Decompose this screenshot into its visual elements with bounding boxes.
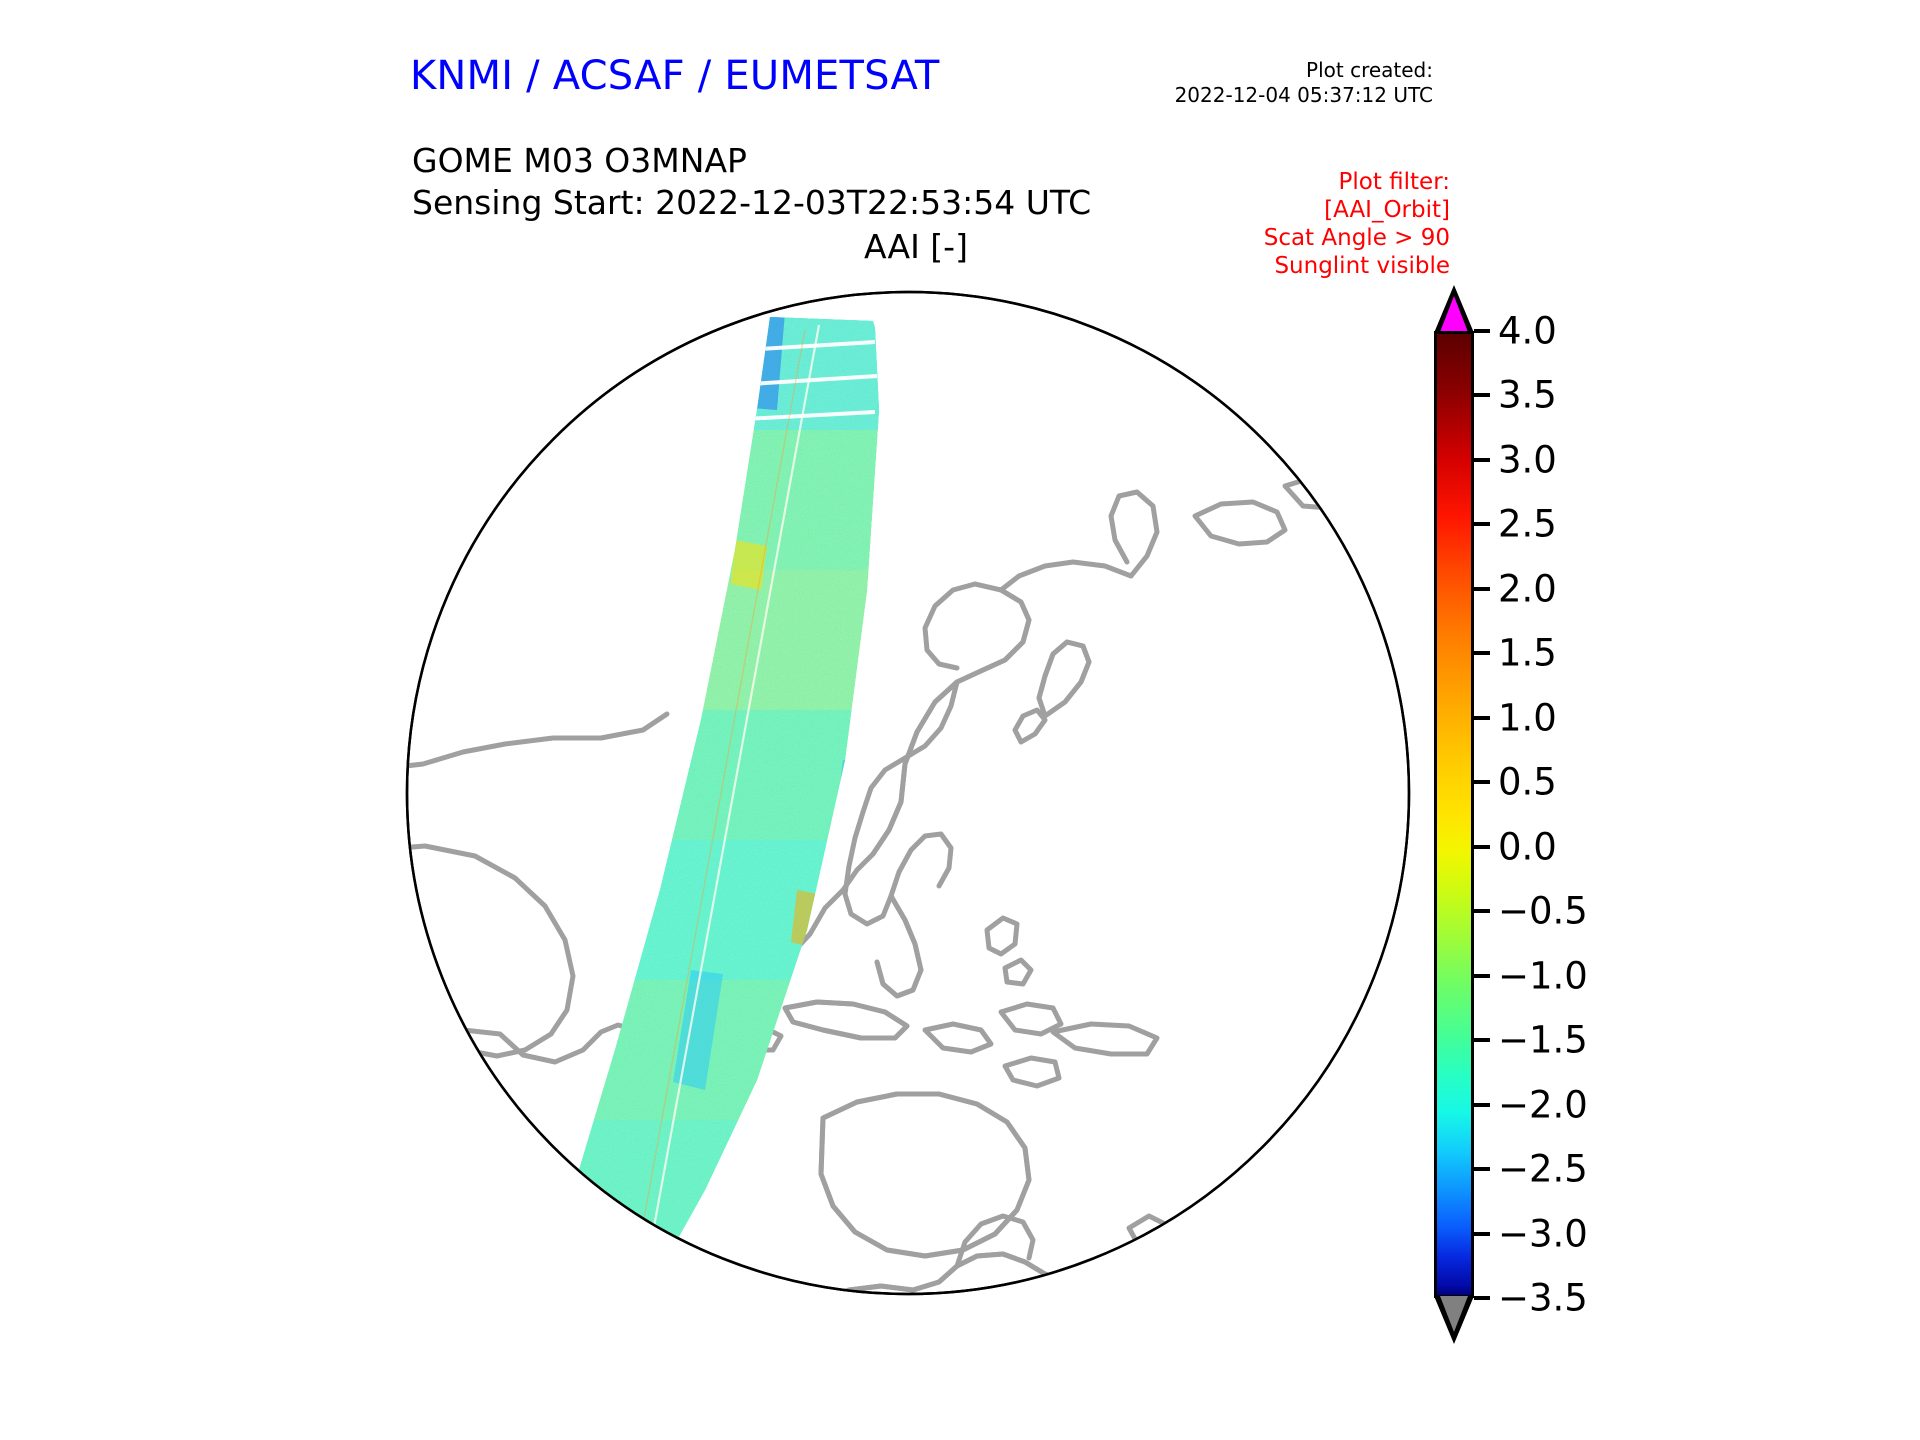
plot-created-timestamp: 2022-12-04 05:37:12 UTC bbox=[1175, 83, 1433, 108]
colorbar-tick bbox=[1474, 909, 1490, 913]
colorbar-tick-label: 2.5 bbox=[1498, 506, 1557, 543]
colorbar-tick-label: −3.0 bbox=[1498, 1215, 1588, 1252]
colorbar-tick-label: 4.0 bbox=[1498, 313, 1557, 350]
plot-filter-line-0: [AAI_Orbit] bbox=[1264, 196, 1450, 224]
colorbar-tick bbox=[1474, 1232, 1490, 1236]
colorbar: 4.03.53.02.52.01.51.00.50.0−0.5−1.0−1.5−… bbox=[1430, 280, 1730, 1310]
quantity-title-row: AAI [-] bbox=[0, 227, 1920, 266]
colorbar-tick bbox=[1474, 393, 1490, 397]
colorbar-tick-label: 1.5 bbox=[1498, 635, 1557, 672]
colorbar-tick bbox=[1474, 329, 1490, 333]
organisation-header: KNMI / ACSAF / EUMETSAT bbox=[410, 53, 940, 99]
colorbar-tick-label: 3.5 bbox=[1498, 377, 1557, 414]
plot-filter-line-1: Scat Angle > 90 bbox=[1264, 224, 1450, 252]
plot-created-block: Plot created: 2022-12-04 05:37:12 UTC bbox=[1175, 58, 1433, 108]
product-name: GOME M03 O3MNAP bbox=[412, 140, 1091, 182]
plot-filter-title: Plot filter: bbox=[1264, 168, 1450, 196]
colorbar-tick-label: 0.0 bbox=[1498, 828, 1557, 865]
colorbar-tick bbox=[1474, 458, 1490, 462]
colorbar-tick bbox=[1474, 1103, 1490, 1107]
colorbar-tick-label: −2.0 bbox=[1498, 1086, 1588, 1123]
plot-canvas: KNMI / ACSAF / EUMETSAT Plot created: 20… bbox=[0, 0, 1920, 1440]
colorbar-tick bbox=[1474, 651, 1490, 655]
colorbar-tick-label: −0.5 bbox=[1498, 893, 1588, 930]
colorbar-under-arrow-fill bbox=[1440, 1296, 1468, 1332]
globe-outline bbox=[407, 292, 1409, 1294]
orthographic-map bbox=[405, 290, 1411, 1296]
product-info-block: GOME M03 O3MNAP Sensing Start: 2022-12-0… bbox=[412, 140, 1091, 224]
globe-svg bbox=[405, 290, 1411, 1296]
colorbar-tick-label: 1.0 bbox=[1498, 699, 1557, 736]
colorbar-tick bbox=[1474, 716, 1490, 720]
plot-filter-block: Plot filter: [AAI_Orbit] Scat Angle > 90… bbox=[1264, 168, 1450, 280]
colorbar-tick-label: −1.0 bbox=[1498, 957, 1588, 994]
colorbar-over-arrow-fill bbox=[1440, 296, 1468, 332]
colorbar-tick bbox=[1474, 1167, 1490, 1171]
colorbar-tick bbox=[1474, 1038, 1490, 1042]
plot-filter-line-2: Sunglint visible bbox=[1264, 252, 1450, 280]
colorbar-tick-label: 3.0 bbox=[1498, 441, 1557, 478]
sensing-start: Sensing Start: 2022-12-03T22:53:54 UTC bbox=[412, 182, 1091, 224]
colorbar-tick bbox=[1474, 780, 1490, 784]
colorbar-gradient bbox=[1434, 331, 1474, 1298]
colorbar-tick-label: −2.5 bbox=[1498, 1151, 1588, 1188]
colorbar-tick bbox=[1474, 1296, 1490, 1300]
colorbar-tick bbox=[1474, 974, 1490, 978]
colorbar-tick bbox=[1474, 587, 1490, 591]
colorbar-tick bbox=[1474, 845, 1490, 849]
colorbar-tick-label: 2.0 bbox=[1498, 570, 1557, 607]
colorbar-tick-label: 0.5 bbox=[1498, 764, 1557, 801]
colorbar-tick bbox=[1474, 522, 1490, 526]
plot-created-label: Plot created: bbox=[1175, 58, 1433, 83]
colorbar-tick-label: −1.5 bbox=[1498, 1022, 1588, 1059]
colorbar-tick-label: −3.5 bbox=[1498, 1280, 1588, 1317]
page-title: AAI [-] bbox=[864, 227, 968, 266]
